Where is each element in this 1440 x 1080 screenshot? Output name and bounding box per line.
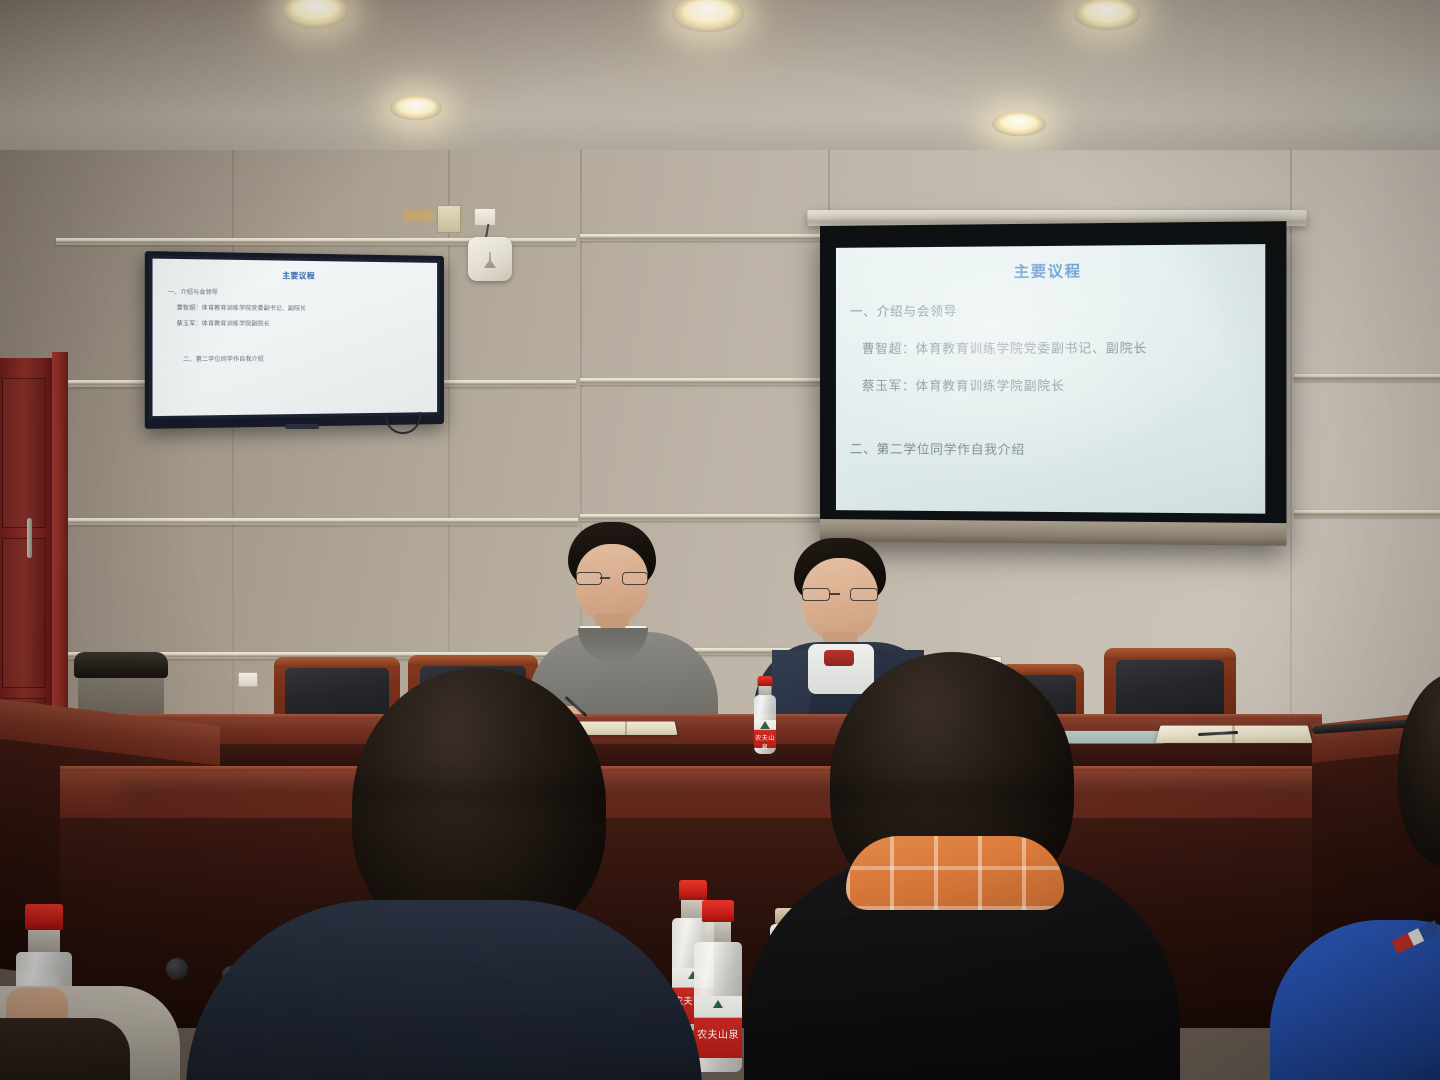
door-handle[interactable] [27,518,32,558]
wall-card [437,205,461,233]
wall-tape-mark [404,210,434,222]
open-notebook [1156,726,1313,743]
bottle-cap [25,904,63,930]
chair-pad [1116,660,1224,721]
chair-pad [285,668,388,721]
bottle-label: 农夫山泉 [694,996,742,1058]
chair-top-rail [1104,648,1236,660]
wall-trim-strip [1294,374,1440,381]
lens-right [622,572,648,585]
eyeglasses-icon [802,588,878,602]
orange-plaid-scarf [846,836,1064,910]
room-door[interactable] [0,358,58,758]
water-bottle[interactable]: 农夫山泉 [754,676,776,754]
bottle-label: 农夫山泉 [754,720,776,748]
tv-slide-line-3: 蔡玉军：体育教育训练学院副院长 [177,319,437,328]
glasses-bridge [600,577,610,579]
tv-slide-line-4: 二、第二学位同学作自我介绍 [183,354,437,363]
slide-line-1: 一、介绍与会领导 [850,299,1265,320]
lens-left [802,588,830,601]
door-panel [2,378,46,528]
door-panel [2,538,46,688]
wall-trim-strip [580,514,830,521]
ceiling-light-5 [992,112,1046,136]
audience-table-edge [60,766,1390,771]
table-shadow [120,786,1320,800]
wall-outlet[interactable] [238,672,258,687]
bottle-neck [759,686,772,695]
bottle-label-text: 农夫山泉 [754,733,776,751]
wall-speaker-icon [468,237,512,281]
tv-bezel: 主要议程 一、介绍与会领导 曹智超：体育教育训练学院党委副书记、副院长 蔡玉军：… [149,255,440,419]
meeting-room-photo: 主要议程 一、介绍与会领导 曹智超：体育教育训练学院党委副书记、副院长 蔡玉军：… [0,0,1440,1080]
speaker-glyph [484,252,496,268]
bottle-neck [28,930,60,952]
tv-slide-title: 主要议程 [153,268,438,283]
bottle-cap [679,880,707,900]
projected-slide: 主要议程 一、介绍与会领导 曹智超：体育教育训练学院党委副书记、副院长 蔡玉军：… [836,244,1265,514]
eyeglasses-icon [576,572,648,585]
bottle-cap [702,900,734,922]
wall-tv-monitor[interactable]: 主要议程 一、介绍与会领导 曹智超：体育教育训练学院党委副书记、副院长 蔡玉军：… [145,251,444,429]
wall-trim-strip [580,234,830,241]
tv-stand [285,424,319,429]
wall-seam [1290,150,1292,770]
open-notebook [577,721,678,735]
slide-line-4: 二、第二学位同学作自我介绍 [850,438,1265,459]
bottle-label-text: 农夫山泉 [694,1026,742,1041]
slide-line-3: 蔡玉军：体育教育训练学院副院长 [862,375,1265,395]
tv-screen: 主要议程 一、介绍与会领导 曹智超：体育教育训练学院党委副书记、副院长 蔡玉军：… [153,259,438,417]
water-bottle[interactable]: 农夫山泉 [694,900,742,1072]
projector-screen: 主要议程 一、介绍与会领导 曹智超：体育教育训练学院党委副书记、副院长 蔡玉军：… [820,221,1286,546]
tv-slide-line-2: 曹智超：体育教育训练学院党委副书记、副院长 [177,303,437,313]
tv-slide-line-1: 一、介绍与会领导 [168,287,437,298]
chair-top-rail [274,657,400,668]
table-caster [166,958,188,980]
bottle-cap [758,676,773,686]
audience-shoulder-left-edge [0,1018,130,1080]
lens-right [850,588,878,601]
door-frame [52,352,68,764]
trash-bag [74,652,168,678]
glasses-bridge [830,593,840,595]
ceiling-light-4 [390,96,442,120]
bottle-neck [705,922,731,942]
slide-line-2: 曹智超：体育教育训练学院党委副书记、副院长 [862,337,1265,357]
lens-left [576,572,602,585]
wall-trim-strip [580,378,830,385]
wall-trim-strip [62,518,578,525]
inner-red-accent [824,650,854,666]
mountain-logo-icon [760,721,770,729]
slide-spacer [836,394,1265,421]
front-table-edge [122,714,1322,719]
mountain-logo-icon [713,1000,723,1008]
power-socket[interactable] [474,208,496,226]
chair-top-rail [408,655,538,666]
slide-title: 主要议程 [836,258,1265,282]
wall-trim-strip [1294,510,1440,517]
